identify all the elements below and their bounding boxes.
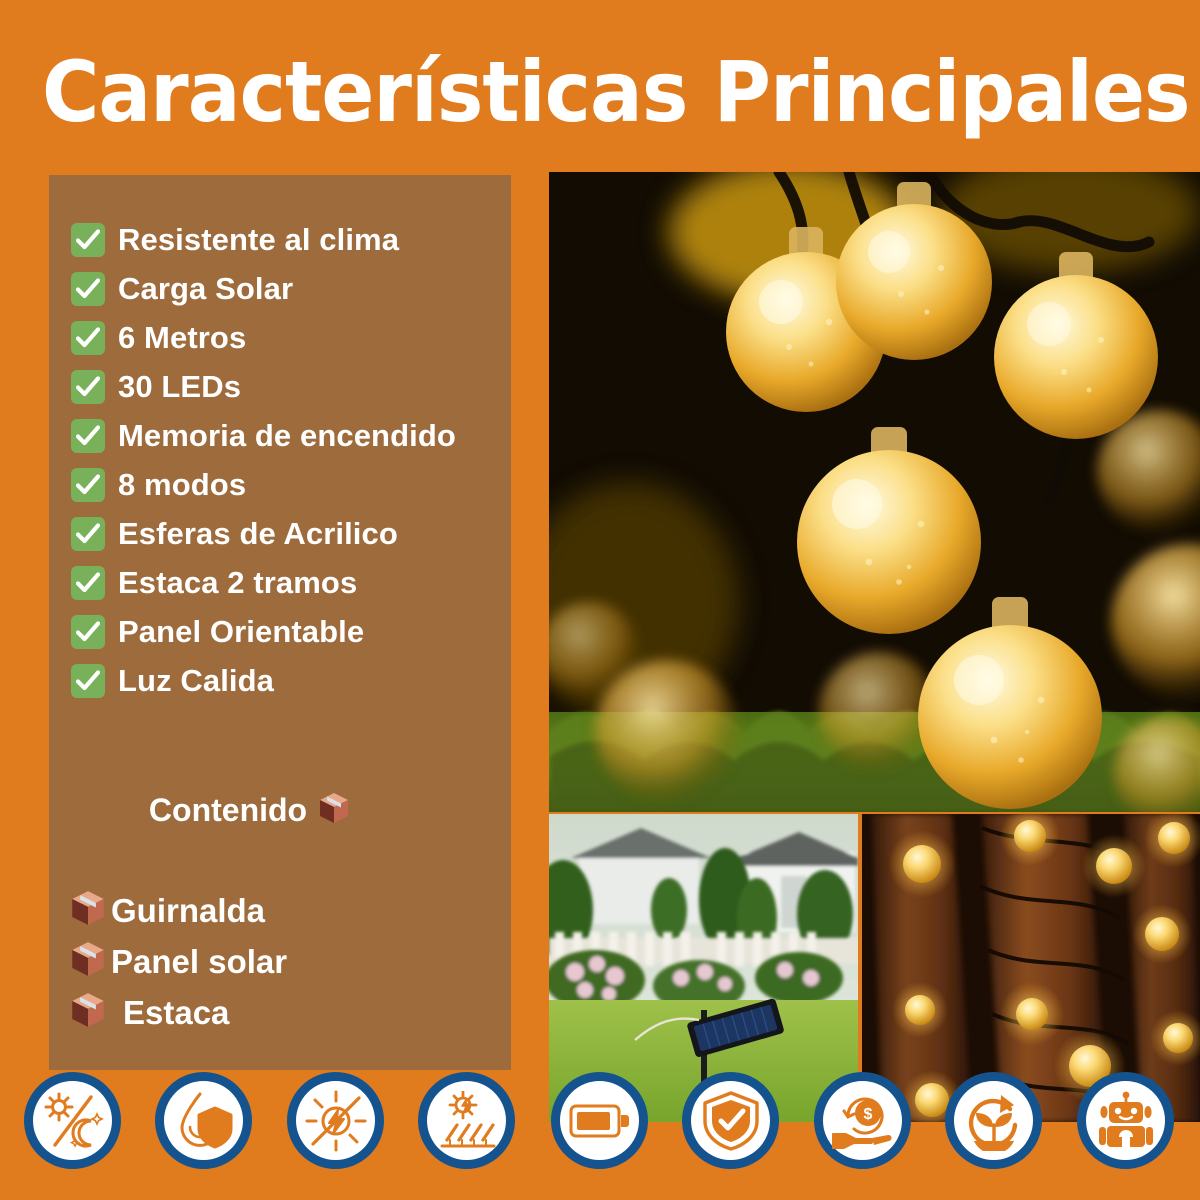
white-check-mark-icon (71, 321, 105, 355)
feature-label: Luz Calida (118, 663, 274, 699)
feature-label: 8 modos (118, 467, 246, 503)
contents-item-label: Panel solar (111, 943, 287, 981)
day-night-icon (42, 1090, 104, 1152)
list-item: 6 Metros (71, 313, 511, 362)
feature-label: Esferas de Acrilico (118, 516, 398, 552)
solar-power-icon (305, 1090, 367, 1152)
solar-panel-icon (437, 1091, 497, 1151)
white-check-mark-icon (71, 664, 105, 698)
svg-text:$: $ (863, 1106, 872, 1123)
features-panel: Resistente al clima Carga Solar 6 Metros… (49, 175, 511, 1070)
package-box-icon (71, 941, 105, 982)
package-box-icon (319, 792, 349, 829)
badge-solar-power[interactable] (287, 1072, 384, 1169)
contents-heading: Contenido (49, 792, 449, 829)
eco-renewable-icon (964, 1091, 1024, 1151)
photo-main (549, 172, 1200, 812)
list-item: Panel solar (71, 936, 491, 987)
battery-icon (569, 1101, 631, 1141)
white-check-mark-icon (71, 419, 105, 453)
list-item: Luz Calida (71, 656, 511, 705)
robot-icon (1097, 1091, 1155, 1151)
page-title: Características Principales (42, 44, 1158, 140)
white-check-mark-icon (71, 223, 105, 257)
contents-item-label: Guirnalda (111, 892, 265, 930)
badge-day-night[interactable] (24, 1072, 121, 1169)
feature-label: Carga Solar (118, 271, 293, 307)
waterproof-shield-icon (174, 1091, 234, 1151)
list-item: 30 LEDs (71, 362, 511, 411)
white-check-mark-icon (71, 517, 105, 551)
list-item: Memoria de encendido (71, 411, 511, 460)
list-item: Esferas de Acrilico (71, 509, 511, 558)
feature-list: Resistente al clima Carga Solar 6 Metros… (71, 215, 511, 705)
feature-label: Panel Orientable (118, 614, 364, 650)
contents-heading-label: Contenido (149, 792, 307, 829)
list-item: 8 modos (71, 460, 511, 509)
feature-label: 6 Metros (118, 320, 246, 356)
badge-solar-panel[interactable] (418, 1072, 515, 1169)
feature-label: Resistente al clima (118, 222, 399, 258)
badge-warranty[interactable] (682, 1072, 779, 1169)
list-item: Panel Orientable (71, 607, 511, 656)
feature-label: 30 LEDs (118, 369, 241, 405)
white-check-mark-icon (71, 615, 105, 649)
white-check-mark-icon (71, 272, 105, 306)
badge-robot[interactable] (1077, 1072, 1174, 1169)
contents-item-label: Estaca (123, 994, 229, 1032)
white-check-mark-icon (71, 370, 105, 404)
list-item: Guirnalda (71, 885, 491, 936)
badge-battery[interactable] (551, 1072, 648, 1169)
photo-tree (862, 814, 1200, 1122)
contents-list: Guirnalda Panel solar (71, 885, 491, 1038)
white-check-mark-icon (71, 468, 105, 502)
list-item: Resistente al clima (71, 215, 511, 264)
package-box-icon (71, 992, 105, 1033)
money-hand-icon: $ (832, 1093, 894, 1149)
feature-label: Memoria de encendido (118, 418, 456, 454)
package-box-icon (71, 890, 105, 931)
list-item: Estaca (71, 987, 491, 1038)
shield-check-icon (703, 1091, 759, 1151)
badge-savings[interactable]: $ (814, 1072, 911, 1169)
list-item: Estaca 2 tramos (71, 558, 511, 607)
feature-label: Estaca 2 tramos (118, 565, 357, 601)
badge-waterproof[interactable] (155, 1072, 252, 1169)
badge-eco[interactable] (945, 1072, 1042, 1169)
white-check-mark-icon (71, 566, 105, 600)
list-item: Carga Solar (71, 264, 511, 313)
